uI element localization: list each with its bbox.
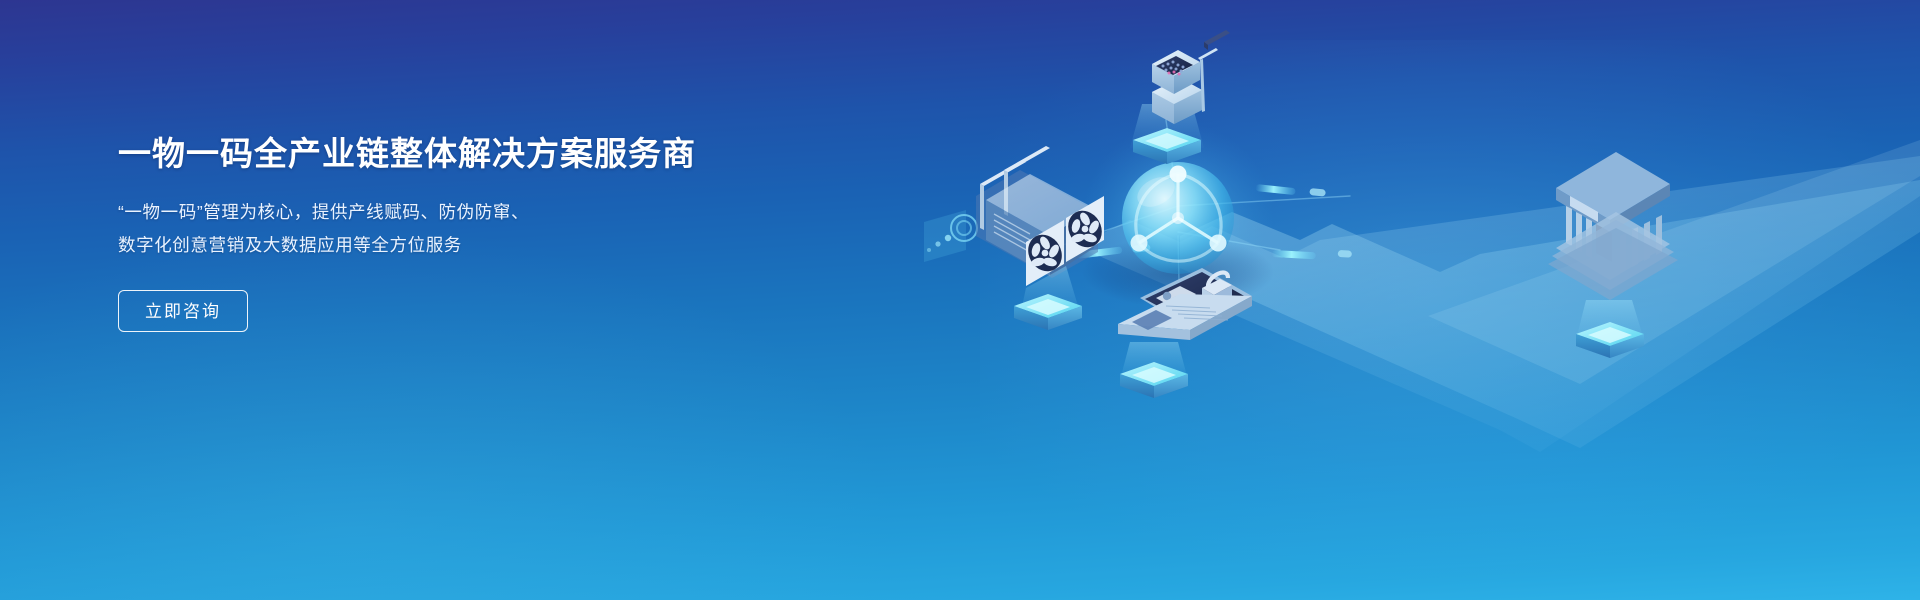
subtitle-line-1: “一物一码”管理为核心，提供产线赋码、防伪防窜、 <box>118 196 758 229</box>
page-title: 一物一码全产业链整体解决方案服务商 <box>118 133 758 174</box>
cash-register-icon <box>1152 30 1230 124</box>
hero-subtitle: “一物一码”管理为核心，提供产线赋码、防伪防窜、 数字化创意营销及大数据应用等全… <box>118 174 758 262</box>
hero-copy: 一物一码全产业链整体解决方案服务商 “一物一码”管理为核心，提供产线赋码、防伪防… <box>118 133 758 332</box>
isometric-illustration <box>880 0 1920 600</box>
hero-banner: 一物一码全产业链整体解决方案服务商 “一物一码”管理为核心，提供产线赋码、防伪防… <box>0 0 1920 600</box>
server-rack-node <box>924 146 1108 330</box>
consult-now-button[interactable]: 立即咨询 <box>118 290 248 332</box>
subtitle-line-2: 数字化创意营销及大数据应用等全方位服务 <box>118 229 758 262</box>
airflow-icon <box>924 210 977 262</box>
